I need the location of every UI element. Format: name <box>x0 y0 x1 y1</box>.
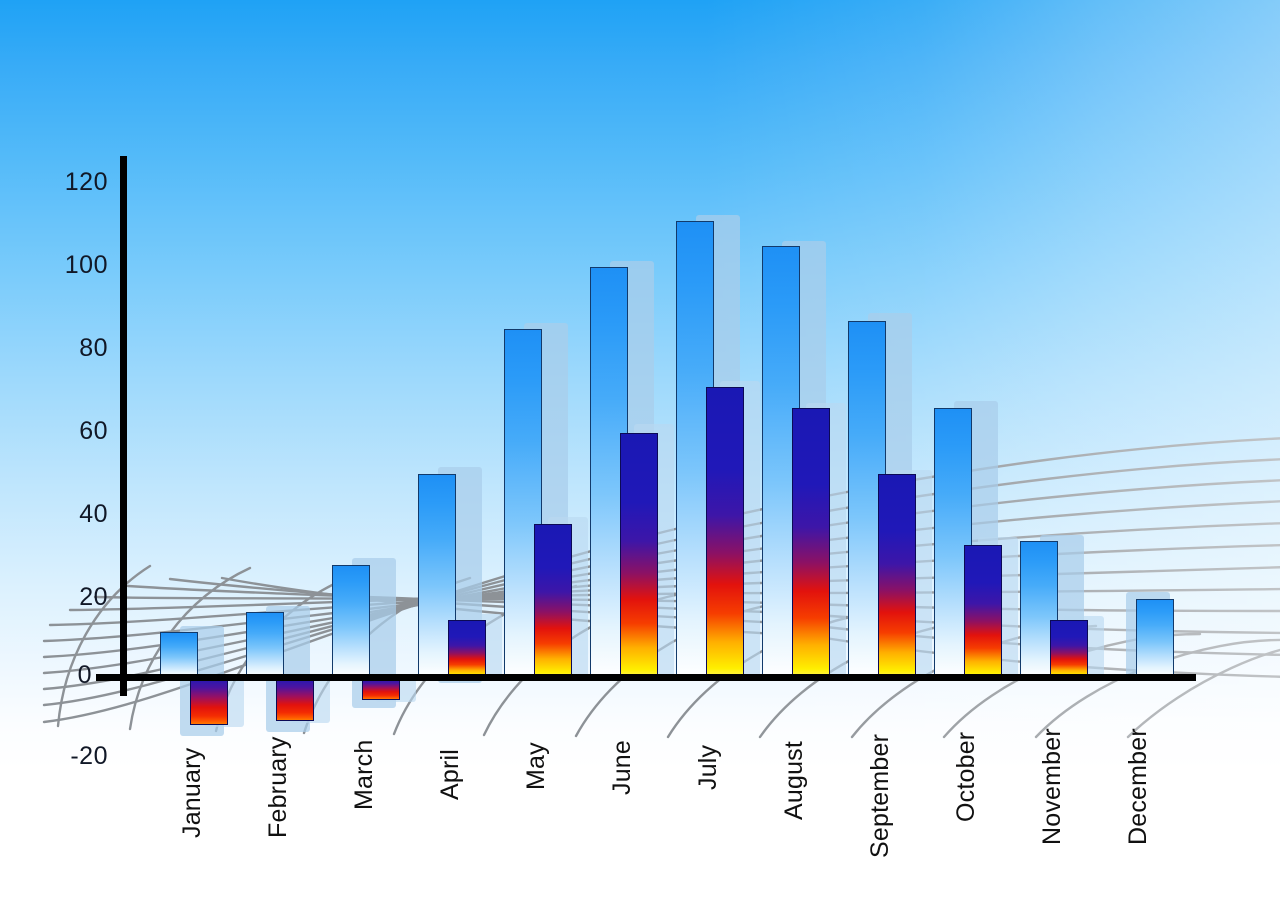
chart-canvas: 120 100 80 60 40 20 0 -20 January Februa… <box>0 0 1280 905</box>
bar-july-series2[interactable] <box>706 387 744 678</box>
bar-october-series2[interactable] <box>964 545 1002 678</box>
y-tick-120: 120 <box>40 168 108 197</box>
bar-december-series1[interactable] <box>1136 599 1174 678</box>
bar-face <box>706 387 744 678</box>
x-label-july: July <box>694 745 723 790</box>
y-tick-80: 80 <box>40 334 108 363</box>
x-label-january: January <box>178 748 207 838</box>
x-label-november: November <box>1038 728 1067 845</box>
y-axis-line <box>120 156 127 696</box>
bar-november-series2[interactable] <box>1050 620 1088 678</box>
plot-area: 120 100 80 60 40 20 0 -20 January Februa… <box>0 0 1280 905</box>
x-label-june: June <box>608 740 637 795</box>
y-tick--20: -20 <box>40 742 108 771</box>
x-label-december: December <box>1124 728 1153 845</box>
bar-face <box>276 679 314 721</box>
bar-face <box>362 679 400 700</box>
bar-face <box>878 474 916 678</box>
bar-face <box>160 632 198 678</box>
x-axis-zero-line <box>96 674 1196 681</box>
x-label-september: September <box>866 734 895 858</box>
bar-face <box>620 433 658 678</box>
bar-january-series2[interactable] <box>190 679 228 725</box>
bar-face <box>534 524 572 678</box>
bar-face <box>448 620 486 678</box>
bar-face <box>964 545 1002 678</box>
bar-august-series2[interactable] <box>792 408 830 678</box>
bar-march-series2[interactable] <box>362 679 400 700</box>
bar-september-series2[interactable] <box>878 474 916 678</box>
x-label-october: October <box>952 732 981 822</box>
bar-january-series1[interactable] <box>160 632 198 678</box>
x-label-august: August <box>780 741 809 820</box>
bar-face <box>792 408 830 678</box>
y-tick-0: 0 <box>40 661 92 690</box>
y-tick-20: 20 <box>40 583 108 612</box>
x-label-may: May <box>522 742 551 790</box>
y-tick-40: 40 <box>40 500 108 529</box>
bar-face <box>1136 599 1174 678</box>
y-tick-60: 60 <box>40 417 108 446</box>
x-label-april: April <box>436 749 465 800</box>
bar-face <box>1050 620 1088 678</box>
x-label-february: February <box>264 736 293 838</box>
bar-face <box>246 612 284 678</box>
bar-may-series2[interactable] <box>534 524 572 678</box>
bar-march-series1[interactable] <box>332 565 370 678</box>
bar-february-series2[interactable] <box>276 679 314 721</box>
y-tick-100: 100 <box>40 251 108 280</box>
bar-face <box>190 679 228 725</box>
bar-february-series1[interactable] <box>246 612 284 678</box>
x-label-march: March <box>350 740 379 810</box>
bar-face <box>332 565 370 678</box>
bar-june-series2[interactable] <box>620 433 658 678</box>
bar-april-series2[interactable] <box>448 620 486 678</box>
